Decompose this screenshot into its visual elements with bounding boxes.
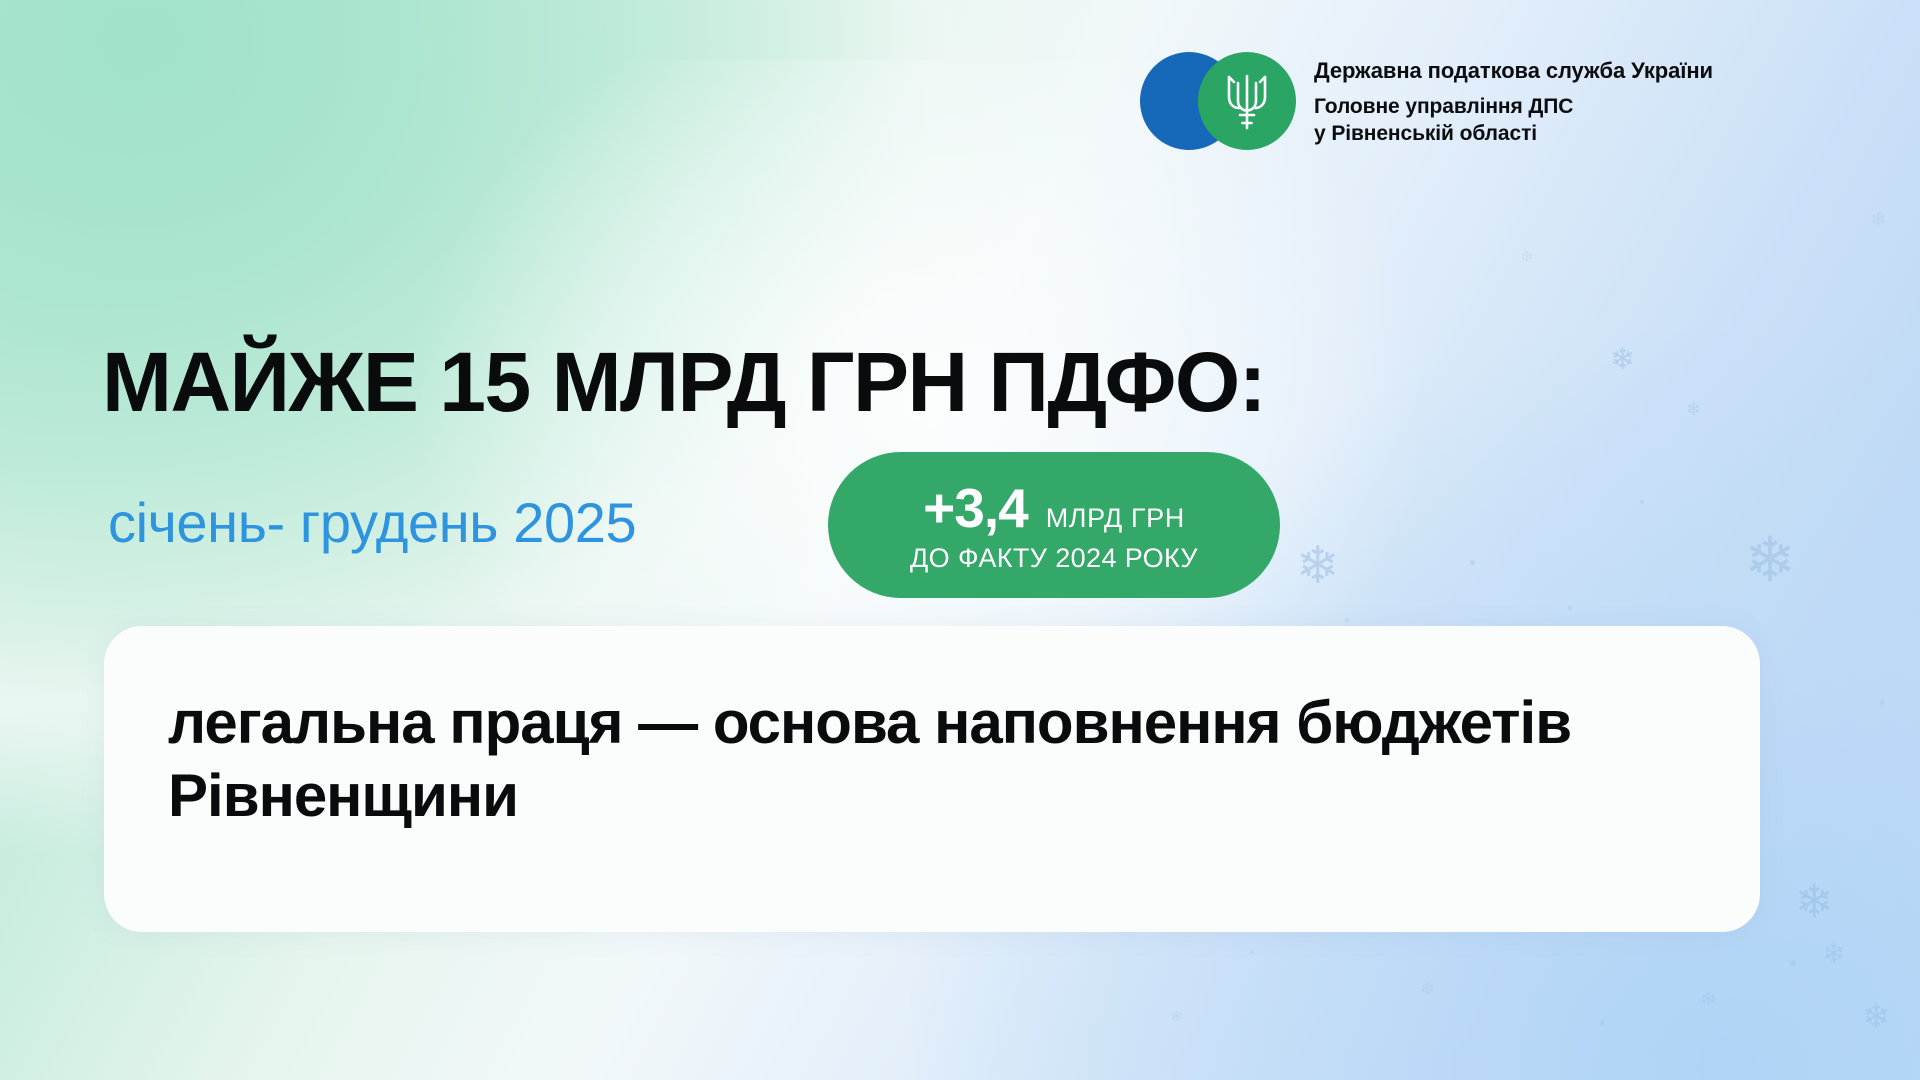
org-name-line-3: у Рівненській області — [1314, 120, 1713, 148]
snow-dot — [1568, 606, 1572, 610]
snow-dot — [1790, 960, 1796, 966]
growth-badge: +3,4 МЛРД ГРН ДО ФАКТУ 2024 РОКУ — [828, 452, 1280, 598]
message-card: легальна праця — основа наповнення бюдже… — [104, 626, 1760, 932]
snowflake-icon: ❄ — [1420, 980, 1435, 998]
snowflake-icon: ❄ — [1610, 345, 1635, 375]
logo-green-circle-icon — [1198, 52, 1296, 150]
badge-comparison: ДО ФАКТУ 2024 РОКУ — [910, 545, 1198, 572]
snow-dot — [1345, 618, 1349, 622]
snow-dot — [1250, 950, 1254, 954]
organization-logo: Державна податкова служба України Головн… — [1140, 52, 1713, 150]
snow-dot — [1600, 1020, 1605, 1025]
badge-value: +3,4 — [923, 481, 1028, 536]
snow-dot — [1640, 500, 1644, 504]
snowflake-icon: ❄ — [1862, 1000, 1891, 1034]
snow-dot — [1470, 560, 1475, 565]
ukraine-trident-icon — [1223, 71, 1271, 131]
organization-name-block: Державна податкова служба України Головн… — [1314, 52, 1713, 148]
snowflake-icon: ❄ — [1795, 878, 1834, 924]
snowflake-icon: ❄ — [1296, 540, 1340, 592]
snowflake-icon: ❄ — [1700, 990, 1717, 1010]
snowflake-icon: ❄ — [1170, 1010, 1183, 1026]
reporting-period-label: січень- грудень 2025 — [108, 495, 636, 551]
page-title: МАЙЖЕ 15 МЛРД ГРН ПДФО: — [102, 340, 1265, 424]
message-card-text: легальна праця — основа наповнення бюдже… — [168, 686, 1648, 832]
logo-marks — [1140, 52, 1296, 150]
poster-canvas: ❄ ❄ ❄ ❄ ❄ ❄ ❄ ❄ ❄ ❄ ❄ ❄ ❄ — [0, 0, 1920, 1080]
snowflake-icon: ❄ — [1686, 400, 1701, 418]
org-name-line-1: Державна податкова служба України — [1314, 56, 1713, 86]
snowflake-icon: ❄ — [1870, 210, 1887, 230]
snowflake-icon: ❄ — [1822, 940, 1845, 968]
badge-top-row: +3,4 МЛРД ГРН — [923, 481, 1185, 536]
snowflake-icon: ❄ — [1744, 530, 1796, 592]
snowflake-icon: ❄ — [1520, 250, 1533, 266]
snow-dot — [1880, 700, 1885, 705]
org-name-line-2: Головне управління ДПС — [1314, 93, 1713, 121]
badge-unit: МЛРД ГРН — [1046, 505, 1185, 532]
